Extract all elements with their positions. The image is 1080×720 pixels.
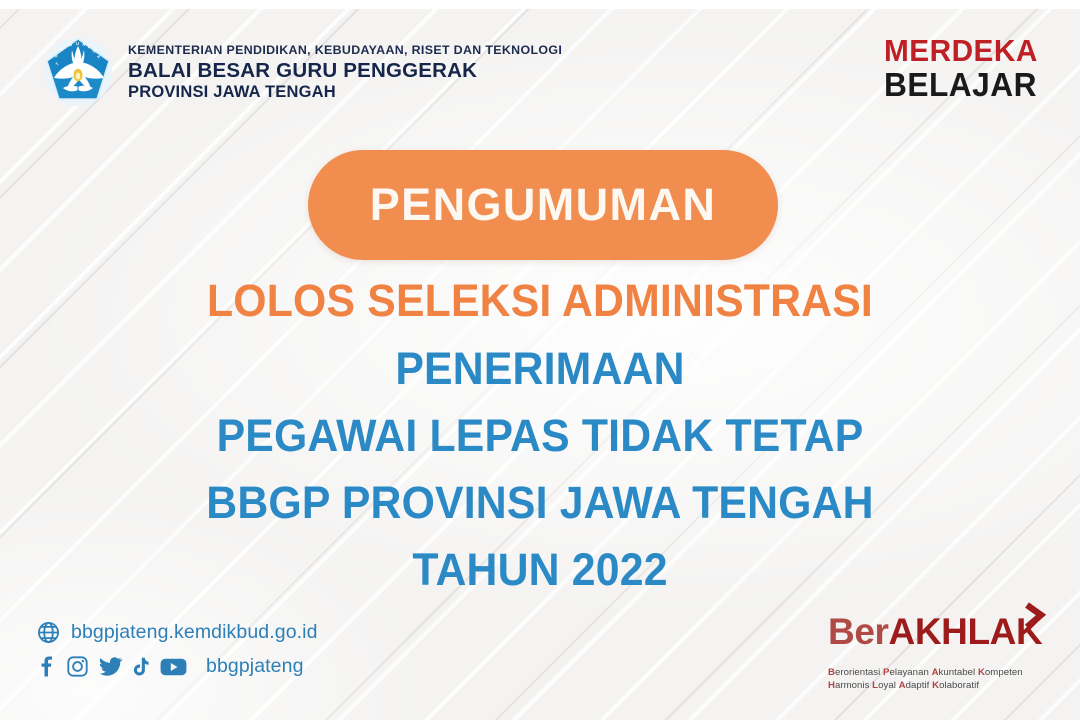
berakhlak-tagline-line1: Berorientasi Pelayanan Akuntabel Kompete… <box>828 666 1052 679</box>
pengumuman-label: PENGUMUMAN <box>370 179 717 231</box>
footer-contact: bbgpjateng.kemdikbud.go.id <box>36 620 318 678</box>
institution-line: BALAI BESAR GURU PENGGERAK <box>128 59 562 83</box>
berakhlak-wordmark: BerAKHLAK <box>828 613 1042 650</box>
facebook-icon[interactable] <box>36 655 57 678</box>
tagline-k1: K <box>978 667 985 678</box>
announcement-poster: T U T W U R I H A KEMENTERIAN PENDIDIKAN… <box>0 0 1080 720</box>
tagline-erorientasi: erorientasi <box>835 667 883 678</box>
tagline-daptif: daptif <box>906 680 933 691</box>
tagline-olaboratif: olaboratif <box>939 680 979 691</box>
headline-line-5: TAHUN 2022 <box>27 547 1053 592</box>
website-url[interactable]: bbgpjateng.kemdikbud.go.id <box>71 621 318 644</box>
svg-text:U: U <box>76 41 79 46</box>
tagline-elayanan: elayanan <box>890 667 932 678</box>
tagline-h: H <box>828 680 835 691</box>
tagline-kuntabel: kuntabel <box>939 667 978 678</box>
tagline-b: B <box>828 667 835 678</box>
headline-line-3: PEGAWAI LEPAS TIDAK TETAP <box>27 413 1053 458</box>
social-handle[interactable]: bbgpjateng <box>206 655 304 678</box>
headline-line-2: PENERIMAAN <box>27 346 1053 391</box>
website-row: bbgpjateng.kemdikbud.go.id <box>36 620 318 645</box>
social-row: bbgpjateng <box>36 655 318 678</box>
tagline-a2: A <box>899 680 906 691</box>
pengumuman-badge: PENGUMUMAN <box>308 150 778 260</box>
twitter-icon[interactable] <box>98 655 123 678</box>
chevron-right-icon <box>1020 601 1050 631</box>
header-text-block: KEMENTERIAN PENDIDIKAN, KEBUDAYAAN, RISE… <box>128 41 562 102</box>
tagline-armonis: armonis <box>835 680 872 691</box>
berakhlak-ber: Ber <box>828 611 889 652</box>
headline-line-4: BBGP PROVINSI JAWA TENGAH <box>27 480 1053 525</box>
globe-icon <box>36 620 61 645</box>
berakhlak-logo: BerAKHLAK Berorientasi Pelayanan Akuntab… <box>820 615 1052 692</box>
province-line: PROVINSI JAWA TENGAH <box>128 83 562 103</box>
tiktok-icon[interactable] <box>132 655 151 678</box>
headline-line-1: LOLOS SELEKSI ADMINISTRASI <box>27 278 1053 323</box>
poster-header: T U T W U R I H A KEMENTERIAN PENDIDIKAN… <box>42 36 562 108</box>
tut-wuri-handayani-emblem: T U T W U R I H A <box>42 36 114 108</box>
merdeka-belajar-logo: MERDEKA BELAJAR <box>884 36 1044 101</box>
headline-block: LOLOS SELEKSI ADMINISTRASI PENERIMAAN PE… <box>0 278 1080 592</box>
tagline-oyal: oyal <box>878 680 899 691</box>
belajar-word: BELAJAR <box>884 68 1038 101</box>
tagline-ompeten: ompeten <box>985 667 1023 678</box>
youtube-icon[interactable] <box>160 656 187 678</box>
instagram-icon[interactable] <box>66 655 89 678</box>
merdeka-word: MERDEKA <box>884 36 1038 66</box>
top-white-strip <box>0 0 1080 9</box>
ministry-line: KEMENTERIAN PENDIDIKAN, KEBUDAYAAN, RISE… <box>128 43 562 59</box>
tagline-a1: A <box>932 667 939 678</box>
berakhlak-tagline-line2: Harmonis Loyal Adaptif Kolaboratif <box>828 679 1052 692</box>
